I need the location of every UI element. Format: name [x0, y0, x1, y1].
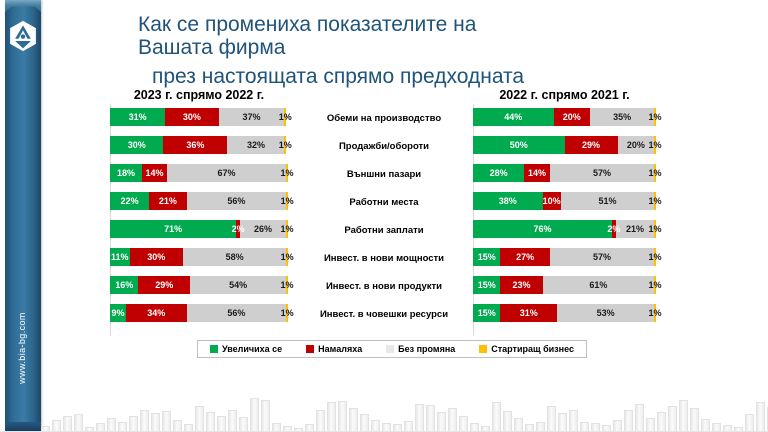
chart-legend: Увеличиха сеНамаляхаБез промянаСтартиращ… — [197, 340, 587, 358]
stacked-bar-left: 16%29%54%1% — [110, 276, 288, 294]
skyline-bar — [679, 400, 688, 432]
skyline-bar — [558, 413, 567, 432]
bar-segment-value: 1% — [281, 168, 294, 178]
bar-segment-value: 21% — [159, 196, 177, 206]
skyline-bar — [459, 416, 468, 432]
bar-segment-dec: 14% — [142, 164, 167, 182]
bar-segment-inc: 38% — [473, 192, 543, 210]
bar-segment-start: 1% — [654, 192, 656, 210]
bar-segment-dec: 34% — [126, 304, 187, 322]
bar-segment-value: 57% — [593, 168, 611, 178]
skyline-bar — [250, 398, 259, 432]
skyline-bar — [151, 413, 160, 432]
skyline-bar — [756, 402, 765, 432]
skyline-bar — [745, 414, 754, 432]
bar-segment-value: 23% — [512, 280, 530, 290]
stacked-bar-right: 38%10%51%1% — [473, 192, 656, 210]
bar-segment-start: 1% — [286, 304, 288, 322]
bar-segment-inc: 71% — [110, 220, 236, 238]
bar-segment-same: 56% — [187, 304, 287, 322]
bar-segment-inc: 22% — [110, 192, 149, 210]
bar-segment-inc: 31% — [110, 108, 165, 126]
bar-segment-same: 67% — [167, 164, 286, 182]
skyline-bar — [63, 416, 72, 432]
skyline-bar — [514, 418, 523, 432]
category-label: Работни места — [296, 191, 472, 213]
bar-segment-value: 21% — [626, 224, 644, 234]
bar-segment-start: 1% — [654, 164, 656, 182]
skyline-bar — [635, 404, 644, 432]
bar-segment-dec: 29% — [138, 276, 190, 294]
bar-segment-value: 9% — [112, 308, 125, 318]
bar-segment-value: 29% — [582, 140, 600, 150]
chart-row: 18%14%67%1%28%14%57%1%Външни пазари — [0, 160, 768, 188]
legend-swatch-icon — [386, 345, 394, 353]
bar-segment-value: 28% — [490, 168, 508, 178]
skyline-bar — [547, 406, 556, 432]
chart-row: 31%30%37%1%44%20%35%1%Обеми на производс… — [0, 104, 768, 132]
bar-segment-value: 76% — [534, 224, 552, 234]
skyline-bar — [195, 406, 204, 432]
chart-rows: 31%30%37%1%44%20%35%1%Обеми на производс… — [0, 104, 768, 328]
bar-segment-value: 61% — [589, 280, 607, 290]
bar-segment-inc: 50% — [473, 136, 565, 154]
category-label: Обеми на производство — [296, 107, 472, 129]
bar-segment-value: 71% — [164, 224, 182, 234]
bar-segment-same: 57% — [550, 248, 654, 266]
chart-row: 11%30%58%1%15%27%57%1%Инвест. в нови мощ… — [0, 244, 768, 272]
page-title-line-2: Вашата фирма — [138, 35, 738, 60]
bar-segment-value: 20% — [627, 140, 645, 150]
bar-segment-value: 1% — [281, 224, 294, 234]
bar-segment-value: 31% — [129, 112, 147, 122]
bar-segment-value: 56% — [227, 308, 245, 318]
bar-segment-dec: 30% — [165, 108, 218, 126]
skyline-bar — [74, 414, 83, 432]
bar-segment-dec: 21% — [149, 192, 186, 210]
bar-segment-same: 53% — [557, 304, 654, 322]
bar-segment-value: 34% — [147, 308, 165, 318]
stacked-bar-left: 18%14%67%1% — [110, 164, 288, 182]
skyline-bar — [503, 411, 512, 432]
category-label: Инвест. в нови мощности — [296, 247, 472, 269]
skyline-bar — [217, 416, 226, 432]
bar-segment-value: 57% — [593, 252, 611, 262]
bar-segment-dec: 31% — [500, 304, 557, 322]
bar-segment-value: 1% — [649, 308, 662, 318]
bar-segment-value: 44% — [504, 112, 522, 122]
bar-segment-inc: 15% — [473, 276, 500, 294]
category-label: Външни пазари — [296, 163, 472, 185]
stacked-bar-right: 28%14%57%1% — [473, 164, 656, 182]
legend-swatch-icon — [210, 345, 218, 353]
stacked-bar-left: 22%21%56%1% — [110, 192, 288, 210]
bar-segment-same: 57% — [550, 164, 654, 182]
category-label: Инвест. в човешки ресурси — [296, 303, 472, 325]
bar-segment-inc: 11% — [110, 248, 130, 266]
legend-swatch-icon — [479, 345, 487, 353]
bar-segment-same: 56% — [187, 192, 287, 210]
skyline-bar — [338, 401, 347, 432]
bia-hexagon-logo-icon — [9, 20, 37, 52]
skyline-bar — [569, 410, 578, 432]
skyline-bar — [668, 406, 677, 432]
stacked-bar-right: 15%23%61%1% — [473, 276, 656, 294]
bar-segment-value: 16% — [115, 280, 133, 290]
category-label: Инвест. в нови продукти — [296, 275, 472, 297]
bar-segment-value: 1% — [649, 196, 662, 206]
bar-segment-start: 1% — [286, 248, 288, 266]
bar-segment-value: 53% — [597, 308, 615, 318]
stacked-bar-right: 44%20%35%1% — [473, 108, 656, 126]
bar-segment-start: 1% — [654, 276, 656, 294]
legend-label: Стартиращ бизнес — [491, 344, 574, 354]
legend-swatch-icon — [306, 345, 314, 353]
bar-segment-value: 26% — [254, 224, 272, 234]
category-label: Продажби/обороти — [296, 135, 472, 157]
skyline-bar — [415, 404, 424, 432]
bar-segment-value: 50% — [510, 140, 528, 150]
stacked-bar-left: 11%30%58%1% — [110, 248, 288, 266]
bar-segment-same: 26% — [240, 220, 286, 238]
bar-segment-value: 14% — [145, 168, 163, 178]
bar-segment-value: 31% — [520, 308, 538, 318]
bar-segment-same: 61% — [543, 276, 655, 294]
skyline-bar — [426, 405, 435, 432]
bar-segment-value: 10% — [543, 196, 561, 206]
bar-segment-value: 1% — [649, 140, 662, 150]
bar-segment-dec: 20% — [554, 108, 591, 126]
bar-segment-value: 30% — [183, 112, 201, 122]
bar-segment-inc: 28% — [473, 164, 524, 182]
skyline-bar — [206, 412, 215, 432]
skyline-bar — [228, 410, 237, 432]
bar-segment-start: 1% — [286, 276, 288, 294]
skyline-bar — [360, 414, 369, 432]
bar-segment-value: 1% — [279, 112, 292, 122]
bar-segment-dec: 30% — [130, 248, 183, 266]
skyline-bar — [316, 410, 325, 432]
legend-item: Стартиращ бизнес — [479, 344, 574, 354]
bar-segment-value: 14% — [528, 168, 546, 178]
bar-segment-same: 32% — [227, 136, 284, 154]
bar-segment-value: 1% — [281, 280, 294, 290]
skyline-bar — [624, 410, 633, 432]
bar-segment-value: 1% — [281, 196, 294, 206]
legend-label: Увеличиха се — [222, 344, 282, 354]
bar-segment-dec: 10% — [543, 192, 561, 210]
bar-segment-value: 32% — [247, 140, 265, 150]
skyline-bar — [107, 418, 116, 432]
bar-segment-start: 1% — [654, 304, 656, 322]
skyline-bar — [239, 417, 248, 432]
stacked-bar-left: 30%36%32%1% — [110, 136, 288, 154]
stacked-bar-left: 71%2%26%1% — [110, 220, 288, 238]
bar-segment-inc: 9% — [110, 304, 126, 322]
bar-segment-value: 1% — [649, 252, 662, 262]
bar-segment-value: 15% — [478, 280, 496, 290]
bar-segment-start: 1% — [654, 108, 656, 126]
bar-segment-value: 11% — [111, 252, 129, 262]
bar-segment-value: 2% — [232, 224, 245, 234]
stacked-bar-right: 15%27%57%1% — [473, 248, 656, 266]
bar-segment-value: 27% — [516, 252, 534, 262]
bar-segment-start: 1% — [654, 248, 656, 266]
chart-row: 71%2%26%1%76%2%21%1%Работни заплати — [0, 216, 768, 244]
bar-segment-inc: 76% — [473, 220, 612, 238]
sidebar-top-bevel — [5, 0, 41, 12]
bar-segment-value: 22% — [121, 196, 139, 206]
bar-segment-value: 58% — [226, 252, 244, 262]
bar-segment-value: 15% — [478, 308, 496, 318]
legend-item: Увеличиха се — [210, 344, 282, 354]
bar-segment-value: 38% — [499, 196, 517, 206]
bar-segment-value: 37% — [242, 112, 260, 122]
bar-segment-inc: 30% — [110, 136, 163, 154]
bar-segment-inc: 15% — [473, 304, 500, 322]
bar-segment-dec: 27% — [500, 248, 549, 266]
bar-segment-value: 67% — [218, 168, 236, 178]
bar-segment-value: 15% — [478, 252, 496, 262]
bar-segment-value: 1% — [649, 168, 662, 178]
bar-segment-same: 37% — [219, 108, 285, 126]
bar-segment-same: 54% — [190, 276, 286, 294]
bar-segment-value: 30% — [147, 252, 165, 262]
stacked-bar-right: 76%2%21%1% — [473, 220, 656, 238]
bar-segment-start: 1% — [654, 220, 656, 238]
bar-segment-dec: 23% — [500, 276, 542, 294]
chart-row: 16%29%54%1%15%23%61%1%Инвест. в нови про… — [0, 272, 768, 300]
bar-segment-value: 29% — [155, 280, 173, 290]
skyline-bar — [646, 418, 655, 432]
skyline-bar — [657, 412, 666, 432]
page-title-line-3: през настоящата спрямо предходната — [138, 64, 738, 89]
bar-segment-value: 1% — [649, 112, 662, 122]
bar-segment-dec: 14% — [524, 164, 550, 182]
bar-segment-value: 54% — [229, 280, 247, 290]
bar-segment-same: 58% — [183, 248, 286, 266]
bar-segment-value: 18% — [117, 168, 135, 178]
legend-label: Намаляха — [318, 344, 362, 354]
bar-segment-same: 35% — [590, 108, 654, 126]
bar-segment-value: 56% — [227, 196, 245, 206]
bar-segment-dec: 36% — [163, 136, 227, 154]
bar-segment-start: 1% — [654, 136, 656, 154]
bar-segment-value: 1% — [649, 280, 662, 290]
skyline-bar — [140, 410, 149, 432]
bar-segment-inc: 44% — [473, 108, 554, 126]
legend-item: Без промяна — [386, 344, 455, 354]
bar-segment-start: 1% — [284, 108, 286, 126]
bar-segment-start: 1% — [286, 220, 288, 238]
bar-segment-value: 1% — [279, 140, 292, 150]
category-label: Работни заплати — [296, 219, 472, 241]
legend-label: Без промяна — [398, 344, 455, 354]
bar-segment-dec: 29% — [565, 136, 618, 154]
skyline-bar — [448, 408, 457, 432]
chart-row: 30%36%32%1%50%29%20%1%Продажби/обороти — [0, 132, 768, 160]
chart-row: 22%21%56%1%38%10%51%1%Работни места — [0, 188, 768, 216]
charts-container: 2023 г. спрямо 2022 г. 2022 г. спрямо 20… — [0, 88, 768, 338]
stacked-bar-left: 9%34%56%1% — [110, 304, 288, 322]
bar-segment-value: 36% — [186, 140, 204, 150]
bar-segment-inc: 15% — [473, 248, 500, 266]
skyline-bar — [690, 408, 699, 432]
page-title: Как се промениха показателите на Вашата … — [138, 12, 738, 89]
page-title-line-1: Как се промениха показателите на — [138, 12, 738, 37]
chart-title-right: 2022 г. спрямо 2021 г. — [473, 88, 656, 102]
bar-segment-start: 1% — [286, 192, 288, 210]
stacked-bar-right: 50%29%20%1% — [473, 136, 656, 154]
skyline-bar — [129, 416, 138, 432]
bar-segment-value: 1% — [281, 252, 294, 262]
skyline-bar — [327, 402, 336, 432]
skyline-bar — [437, 412, 446, 432]
bar-segment-same: 51% — [561, 192, 654, 210]
bar-segment-value: 1% — [281, 308, 294, 318]
skyline-bar — [162, 411, 171, 432]
decorative-skyline-bars — [41, 386, 768, 432]
chart-title-left: 2023 г. спрямо 2022 г. — [110, 88, 288, 102]
stacked-bar-right: 15%31%53%1% — [473, 304, 656, 322]
bar-segment-value: 30% — [128, 140, 146, 150]
skyline-bar — [492, 402, 501, 432]
skyline-bar — [261, 400, 270, 432]
legend-item: Намаляха — [306, 344, 362, 354]
bar-segment-value: 20% — [563, 112, 581, 122]
bar-segment-inc: 18% — [110, 164, 142, 182]
bar-segment-inc: 16% — [110, 276, 138, 294]
bar-segment-value: 51% — [598, 196, 616, 206]
skyline-bar — [349, 408, 358, 432]
chart-row: 9%34%56%1%15%31%53%1%Инвест. в човешки р… — [0, 300, 768, 328]
bar-segment-value: 35% — [613, 112, 631, 122]
bar-segment-start: 1% — [286, 164, 288, 182]
stacked-bar-left: 31%30%37%1% — [110, 108, 288, 126]
bar-segment-value: 1% — [649, 224, 662, 234]
bar-segment-value: 2% — [607, 224, 620, 234]
bar-segment-start: 1% — [284, 136, 286, 154]
